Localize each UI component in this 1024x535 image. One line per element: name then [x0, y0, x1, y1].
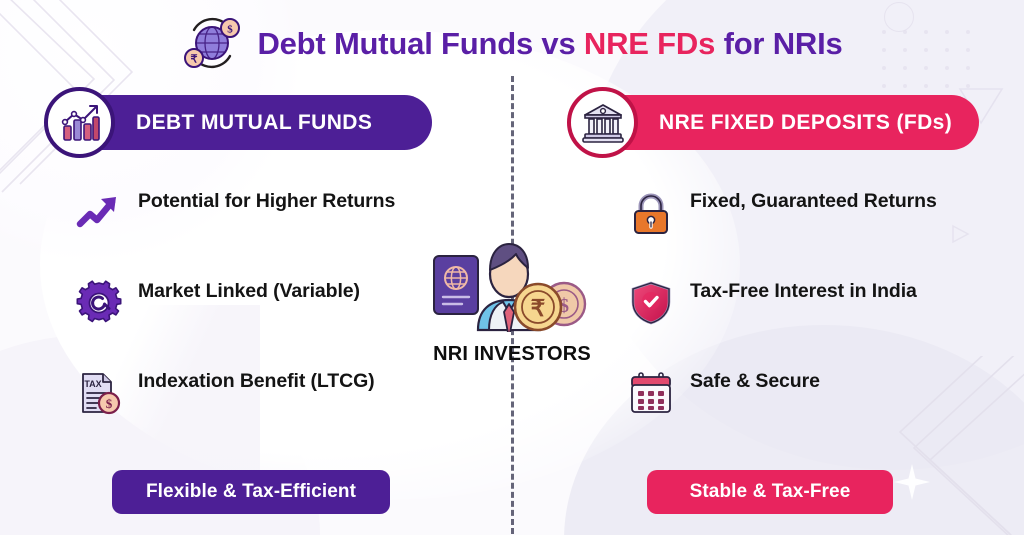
- growth-arrow-icon: [76, 190, 122, 236]
- list-item[interactable]: Fixed, Guaranteed Returns: [628, 188, 1008, 278]
- tax-document-coin-icon: TAX $: [76, 370, 122, 416]
- sparkle-icon: [892, 462, 932, 507]
- page-title: Debt Mutual Funds vs NRE FDs for NRIs: [257, 28, 842, 59]
- center-figure-block: $ ₹ NRI INVESTORS: [414, 234, 610, 366]
- list-item-label: Market Linked (Variable): [138, 278, 360, 305]
- svg-text:$: $: [228, 24, 234, 36]
- bar-chart-trend-icon: [44, 87, 115, 158]
- right-column-header-label: NRE FIXED DEPOSITS (FDs): [659, 111, 952, 135]
- list-item-label: Fixed, Guaranteed Returns: [690, 188, 937, 215]
- list-item[interactable]: TAX $ Indexation Benefit (LTCG): [76, 368, 476, 458]
- page-title-part1: Debt Mutual Funds vs: [257, 26, 583, 61]
- left-column-header-label: DEBT MUTUAL FUNDS: [136, 111, 372, 135]
- center-figure-label: NRI INVESTORS: [414, 343, 610, 366]
- right-summary-pill-label: Stable & Tax-Free: [690, 481, 851, 503]
- left-column-header-badge[interactable]: DEBT MUTUAL FUNDS: [52, 95, 432, 150]
- page-title-part3: for NRIs: [715, 26, 842, 61]
- left-summary-pill[interactable]: Flexible & Tax-Efficient: [112, 470, 390, 514]
- gear-wrench-icon: [76, 280, 122, 326]
- right-summary-pill[interactable]: Stable & Tax-Free: [647, 470, 893, 514]
- list-item-label: Indexation Benefit (LTCG): [138, 368, 375, 395]
- svg-text:₹: ₹: [191, 54, 198, 66]
- svg-text:TAX: TAX: [84, 379, 101, 389]
- page-title-row: $ ₹ Debt Mutual Funds vs NRE FDs for NRI…: [0, 12, 1024, 74]
- infographic-canvas: $ ₹ Debt Mutual Funds vs NRE FDs for NRI…: [0, 0, 1024, 535]
- list-item-label: Tax-Free Interest in India: [690, 278, 917, 305]
- bank-building-icon: [567, 87, 638, 158]
- padlock-icon: [628, 190, 674, 236]
- calendar-icon: [628, 370, 674, 416]
- page-title-part2: NRE FDs: [584, 26, 715, 61]
- right-feature-list: Fixed, Guaranteed Returns Tax: [628, 188, 1008, 458]
- right-column-header-badge[interactable]: NRE FIXED DEPOSITS (FDs): [575, 95, 979, 150]
- left-summary-pill-label: Flexible & Tax-Efficient: [146, 481, 356, 503]
- svg-text:₹: ₹: [531, 296, 546, 321]
- nri-investor-passport-coins-icon: $ ₹: [426, 319, 598, 336]
- svg-text:$: $: [106, 396, 113, 411]
- shield-check-icon: [628, 280, 674, 326]
- globe-currency-exchange-icon: $ ₹: [181, 12, 243, 74]
- list-item[interactable]: Tax-Free Interest in India: [628, 278, 1008, 368]
- list-item-label: Safe & Secure: [690, 368, 820, 395]
- list-item-label: Potential for Higher Returns: [138, 188, 395, 215]
- list-item[interactable]: Safe & Secure: [628, 368, 1008, 458]
